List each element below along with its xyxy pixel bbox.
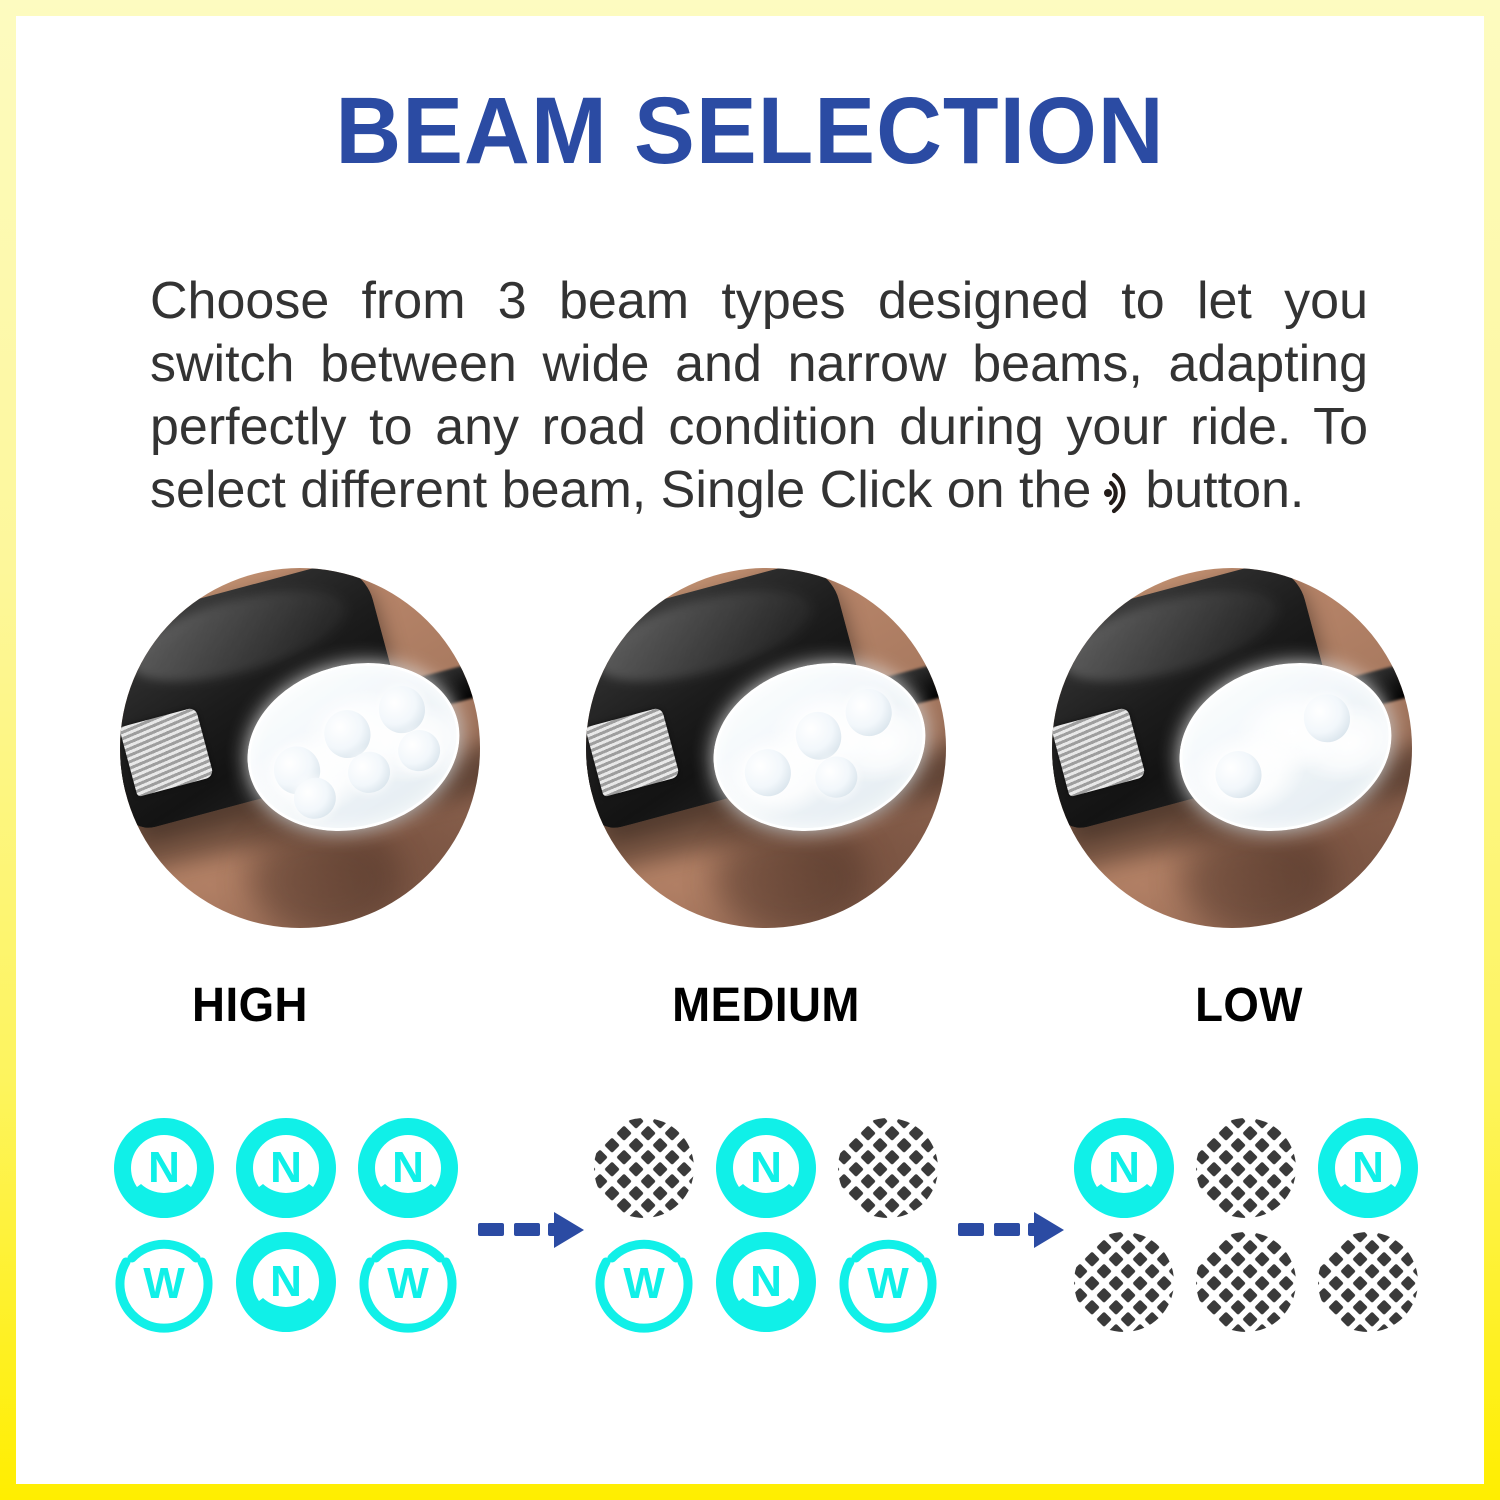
photo-led bbox=[739, 744, 796, 802]
state-cell-narrow-on: N bbox=[108, 1112, 220, 1224]
bike-light-high-beam-photo bbox=[120, 568, 480, 928]
svg-text:N: N bbox=[148, 1143, 180, 1192]
state-cell-off bbox=[1190, 1226, 1302, 1338]
transition-arrow-high-to-medium bbox=[476, 1206, 588, 1254]
state-cell-off bbox=[1190, 1112, 1302, 1224]
state-cell-wide-on: W bbox=[832, 1226, 944, 1338]
state-group-medium: N W N W bbox=[588, 1098, 944, 1348]
photo-led bbox=[1210, 746, 1267, 804]
content-canvas: BEAM SELECTION Choose from 3 beam types … bbox=[16, 16, 1484, 1484]
page-title: BEAM SELECTION bbox=[45, 84, 1454, 179]
svg-text:W: W bbox=[143, 1259, 185, 1308]
svg-text:W: W bbox=[387, 1259, 429, 1308]
state-cell-narrow-on: N bbox=[230, 1226, 342, 1338]
state-cell-narrow-on: N bbox=[1068, 1112, 1180, 1224]
state-cell-off bbox=[832, 1112, 944, 1224]
state-cell-wide-on: W bbox=[108, 1226, 220, 1338]
photo-led bbox=[840, 684, 897, 742]
state-group-high: N N N W N W bbox=[108, 1098, 464, 1348]
beam-state-diagram: N N N W N W bbox=[16, 1098, 1484, 1358]
transition-arrow-medium-to-low bbox=[956, 1206, 1068, 1254]
svg-text:N: N bbox=[392, 1143, 424, 1192]
state-cell-wide-on: W bbox=[588, 1226, 700, 1338]
svg-text:N: N bbox=[750, 1257, 782, 1306]
photo-cell-high bbox=[120, 568, 480, 928]
state-cell-narrow-on: N bbox=[230, 1112, 342, 1224]
state-cell-wide-on: W bbox=[352, 1226, 464, 1338]
state-cell-narrow-on: N bbox=[352, 1112, 464, 1224]
photo-background-blur bbox=[250, 827, 401, 928]
photo-background-blur bbox=[1182, 827, 1333, 928]
mode-label-row: HIGH MEDIUM LOW bbox=[16, 978, 1484, 1038]
mode-label-medium: MEDIUM bbox=[595, 978, 937, 1033]
photo-cell-medium bbox=[586, 568, 946, 928]
product-photo-row bbox=[16, 568, 1484, 938]
state-group-low: N N bbox=[1068, 1098, 1424, 1348]
beam-signal-icon bbox=[1095, 467, 1139, 511]
bike-light-low-beam-photo bbox=[1052, 568, 1412, 928]
description-text-part2: button. bbox=[1145, 461, 1304, 519]
state-cell-off bbox=[1068, 1226, 1180, 1338]
svg-text:W: W bbox=[623, 1259, 665, 1308]
svg-text:W: W bbox=[867, 1259, 909, 1308]
state-cell-narrow-on: N bbox=[710, 1226, 822, 1338]
state-cell-off bbox=[1312, 1226, 1424, 1338]
description-paragraph: Choose from 3 beam types designed to let… bbox=[150, 270, 1368, 522]
svg-text:N: N bbox=[270, 1257, 302, 1306]
state-cell-narrow-on: N bbox=[710, 1112, 822, 1224]
mode-label-high: HIGH bbox=[79, 978, 421, 1033]
state-cell-narrow-on: N bbox=[1312, 1112, 1424, 1224]
bike-light-medium-beam-photo bbox=[586, 568, 946, 928]
svg-text:N: N bbox=[1108, 1143, 1140, 1192]
photo-cell-low bbox=[1052, 568, 1412, 928]
state-cell-off bbox=[588, 1112, 700, 1224]
photo-background-blur bbox=[716, 827, 867, 928]
mode-label-low: LOW bbox=[1078, 978, 1420, 1033]
svg-text:N: N bbox=[1352, 1143, 1384, 1192]
svg-text:N: N bbox=[270, 1143, 302, 1192]
svg-text:N: N bbox=[750, 1143, 782, 1192]
photo-led bbox=[1299, 689, 1356, 747]
infographic-page: BEAM SELECTION Choose from 3 beam types … bbox=[0, 0, 1500, 1500]
